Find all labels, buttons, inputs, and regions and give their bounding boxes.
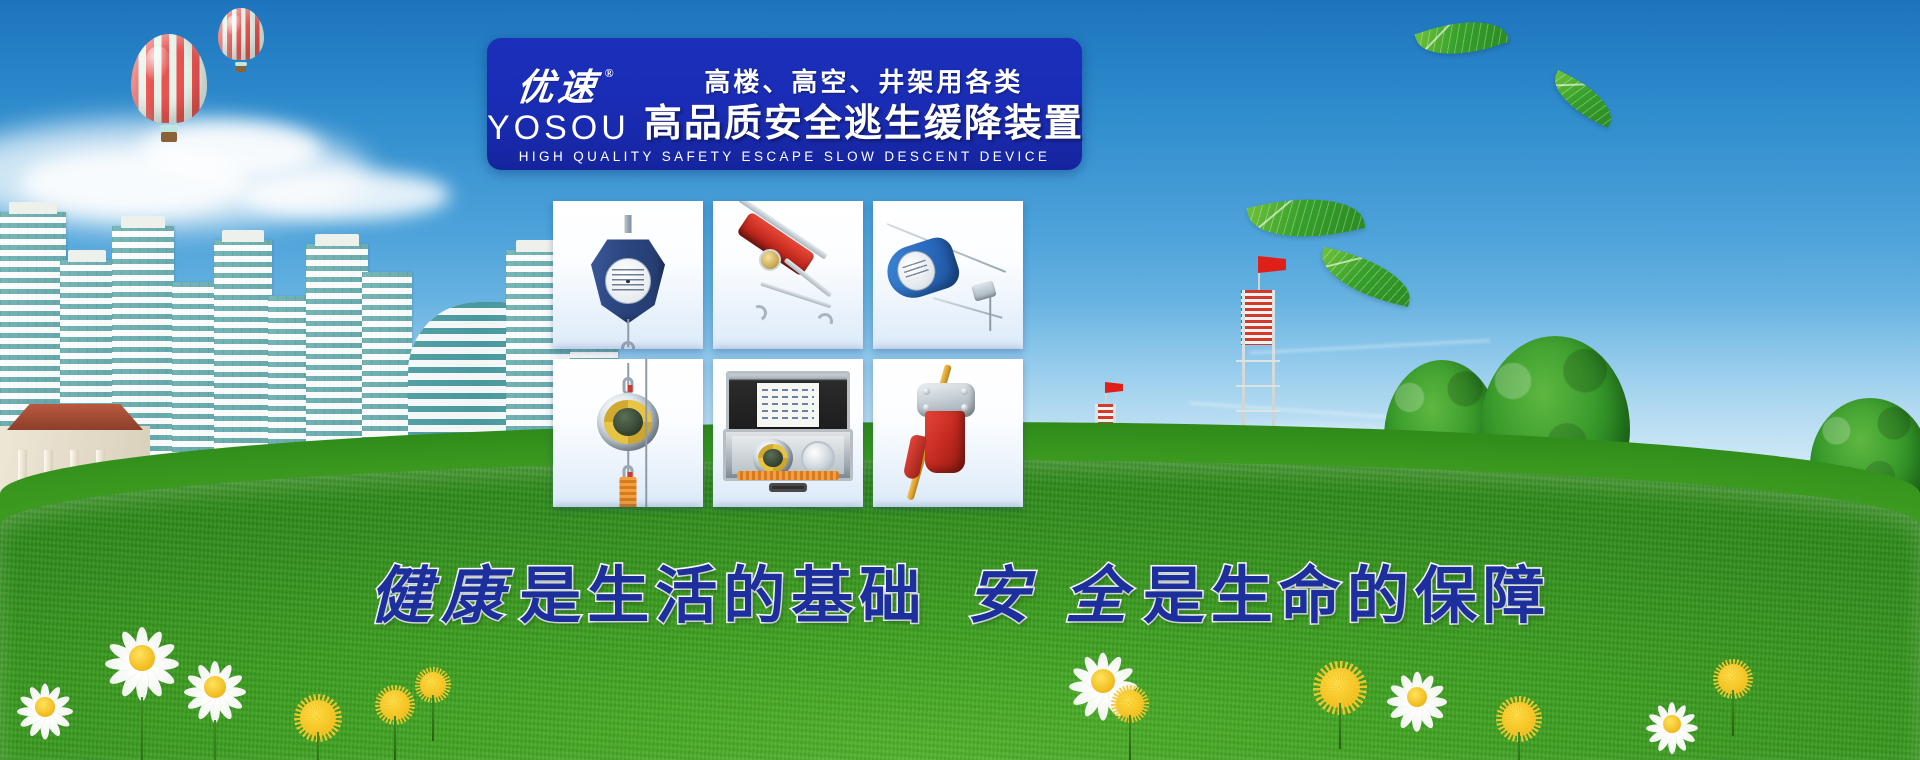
product-dial: [605, 258, 651, 304]
product-dial: [763, 449, 782, 467]
daisy-core: [1663, 715, 1681, 733]
product-dial: [613, 408, 643, 436]
product-strap: [620, 477, 637, 507]
case-handle: [769, 483, 807, 492]
dandelion-6: [1718, 664, 1748, 694]
product-housing: [597, 393, 659, 451]
case-lid: [726, 371, 850, 433]
promotional-banner: 优速 ® YOSOU 高楼、高空、井架用各类 高品质安全逃生缓降装置 HIGH …: [0, 0, 1920, 760]
daisy-stem: [141, 697, 143, 760]
document-row: [762, 396, 814, 398]
product-side-wire: [645, 359, 647, 507]
dandelion-stem: [1518, 732, 1520, 760]
dandelion-stem: [1129, 715, 1131, 760]
derrick-rung: [1236, 385, 1280, 387]
tile-shadow: [873, 347, 1023, 349]
product-body: [881, 233, 964, 304]
brand-name-cn-text: 优速: [515, 68, 601, 109]
product-clamp: [971, 280, 997, 301]
product-tile-red-lever-hoist[interactable]: [713, 201, 863, 349]
headline-english: HIGH QUALITY SAFETY ESCAPE SLOW DESCENT …: [487, 149, 1082, 164]
dandelion-stem: [317, 732, 319, 760]
product-wire: [989, 297, 991, 331]
daisy-2: [176, 648, 254, 726]
dandelion-5: [1502, 702, 1536, 736]
case-rope-spool: [801, 441, 835, 475]
product-bolt: [961, 404, 968, 411]
tile-shadow: [553, 505, 703, 507]
headline-subline: 高楼、高空、井架用各类: [704, 68, 1023, 98]
daisy-6: [1640, 692, 1704, 756]
tower-cap: [222, 230, 264, 242]
tower-cap: [315, 234, 360, 246]
hot-air-balloon-large: [131, 34, 207, 142]
daisy-core: [1091, 669, 1115, 693]
product-gear: [759, 249, 781, 271]
daisy-core: [35, 697, 55, 717]
tile-shadow: [873, 505, 1023, 507]
document-row: [762, 410, 814, 412]
daisy-stem: [214, 720, 216, 760]
derrick-rung: [1236, 410, 1280, 412]
product-dial: [892, 246, 940, 295]
case-document: [757, 383, 819, 427]
dandelion-head: [1502, 702, 1536, 736]
tile-shadow: [713, 505, 863, 507]
daisy-core: [204, 676, 226, 698]
balloon-envelope: [131, 34, 207, 123]
daisy-core: [129, 645, 155, 671]
product-bolt: [923, 388, 930, 395]
headline-main: 高品质安全逃生缓降装置: [644, 102, 1084, 147]
product-label-text: [902, 260, 930, 282]
registered-trademark-icon: ®: [605, 67, 618, 79]
derrick-top-section: [1241, 290, 1274, 345]
document-row: [762, 417, 814, 419]
balloon-basket: [236, 66, 245, 72]
document-row: [762, 403, 814, 405]
product-red-body: [925, 411, 965, 473]
tile-shadow: [713, 347, 863, 349]
tower-cap: [68, 250, 107, 262]
product-hook: [749, 303, 770, 324]
tower-cap: [121, 216, 166, 228]
brand-name-en: YOSOU: [487, 111, 630, 145]
product-tile-blue-wire-rope-hoist[interactable]: [873, 201, 1023, 349]
balloon-envelope: [218, 8, 264, 60]
tile-shadow: [553, 347, 703, 349]
dandelion-stem: [1732, 690, 1734, 736]
dandelion-7: [1116, 690, 1144, 718]
product-tile-blue-fall-arrester[interactable]: [553, 201, 703, 349]
headline-plate: 优速 ® YOSOU 高楼、高空、井架用各类 高品质安全逃生缓降装置 HIGH …: [487, 38, 1082, 170]
dandelion-2: [380, 690, 410, 720]
daisy-5: [1380, 660, 1454, 734]
product-bolt: [961, 388, 968, 395]
product-tile-chrome-descender[interactable]: [553, 359, 703, 507]
document-row: [762, 389, 814, 391]
daisy-3: [10, 672, 80, 742]
product-hanger: [625, 215, 632, 233]
product-hook: [815, 311, 836, 332]
slogan-part-2: 是生活的基础: [519, 545, 927, 635]
brand-name-cn: 优速 ®: [515, 70, 601, 107]
dandelion-head: [1320, 668, 1360, 708]
derrick-rung: [1236, 360, 1280, 362]
product-cable-lower: [933, 297, 1003, 319]
slogan-part-4: 是生命的保障: [1143, 545, 1551, 635]
dandelion-1: [300, 700, 336, 736]
tower-cap: [9, 202, 57, 214]
slogan-part-3: 安 全: [967, 545, 1137, 635]
product-grid: [553, 201, 1023, 506]
dandelion-4: [1320, 668, 1360, 708]
product-tile-escape-device-case[interactable]: [713, 359, 863, 507]
dandelion-head: [300, 700, 336, 736]
balloon-neck: [160, 125, 178, 133]
product-hub: [626, 280, 630, 284]
dandelion-stem: [432, 695, 434, 741]
product-bolt: [923, 404, 930, 411]
villa-roof: [0, 404, 156, 430]
bottom-slogan: 健康是生活的基础安 全是生命的保障: [0, 545, 1920, 635]
case-orange-rope: [737, 471, 839, 480]
product-tile-red-rope-grab[interactable]: [873, 359, 1023, 507]
hot-air-balloon-small: [218, 8, 264, 72]
slogan-part-1: 健康: [369, 545, 513, 635]
dandelion-stem: [1339, 703, 1341, 749]
dandelion-stem: [394, 716, 396, 760]
dandelion-3: [420, 672, 446, 698]
product-housing: [591, 239, 665, 323]
balloon-basket: [161, 132, 176, 142]
